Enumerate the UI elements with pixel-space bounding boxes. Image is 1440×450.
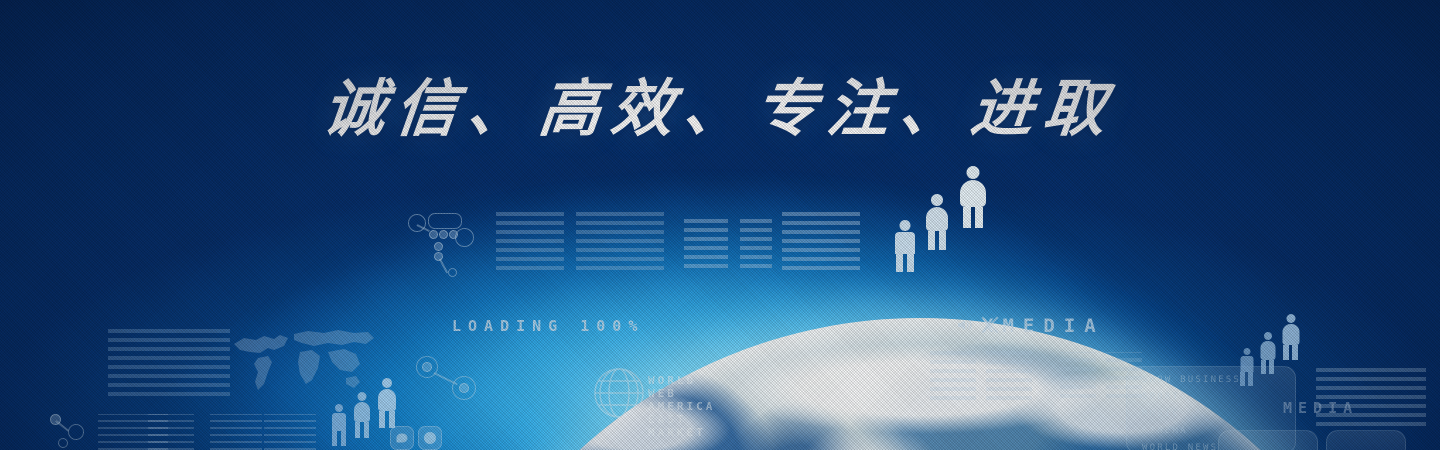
app-icon-chat: [390, 426, 414, 450]
node-circle: [68, 424, 84, 440]
hud-panel[interactable]: [1326, 430, 1406, 450]
binary-block: [1316, 368, 1426, 426]
person-pictogram: [1258, 332, 1277, 374]
binary-block: [496, 212, 564, 270]
category-item[interactable]: MUSIC: [1142, 406, 1241, 423]
page-title: 诚信、高效、专注、进取: [0, 58, 1440, 148]
node-dot: [434, 242, 443, 251]
node-circle: [58, 438, 68, 448]
category-panel-list: SHOW BUSINESS SPORTS MUSIC CINEMA WORLD …: [1142, 372, 1241, 450]
node-circle: [448, 268, 457, 277]
speaker-icon: [958, 319, 972, 331]
world-map-silhouette: [228, 326, 378, 398]
binary-block: [782, 212, 860, 270]
category-item[interactable]: WORLD NEWS: [1142, 440, 1241, 450]
person-pictogram: [352, 392, 372, 438]
binary-block: [108, 324, 230, 396]
app-icon-media: [418, 426, 442, 450]
binary-block: [1060, 352, 1096, 398]
node-dot: [50, 414, 61, 425]
globe-wireframe-icon: [592, 366, 646, 420]
node-rounded: [428, 213, 462, 229]
person-pictogram: [958, 166, 988, 228]
node-dot: [422, 362, 432, 372]
person-pictogram: [924, 194, 950, 250]
node-circle: [408, 214, 426, 232]
person-pictogram: [330, 404, 348, 446]
hero-banner: LOADING 100% XMEDIA WORLD WEB AMERICA EA…: [0, 0, 1440, 450]
category-item[interactable]: SPORTS: [1142, 389, 1241, 406]
node-circle: [455, 228, 474, 247]
binary-block: [930, 348, 976, 400]
binary-block: [986, 348, 1032, 400]
node-dot: [429, 230, 438, 239]
person-pictogram: [376, 378, 398, 428]
person-pictogram: [1238, 348, 1255, 386]
category-item[interactable]: CINEMA: [1142, 423, 1241, 440]
text-line-block: [264, 414, 316, 450]
x-close-icon: [979, 314, 1001, 336]
node-dot: [434, 252, 443, 261]
binary-block: [576, 212, 664, 270]
binary-block: [684, 214, 728, 268]
person-pictogram: [893, 220, 917, 272]
category-item[interactable]: SHOW BUSINESS: [1142, 372, 1241, 389]
node-dot: [459, 383, 469, 393]
person-pictogram: [1280, 314, 1301, 360]
text-line-block: [210, 414, 262, 450]
binary-block: [740, 214, 772, 268]
text-line-block: [148, 414, 194, 450]
node-dot: [439, 230, 448, 239]
